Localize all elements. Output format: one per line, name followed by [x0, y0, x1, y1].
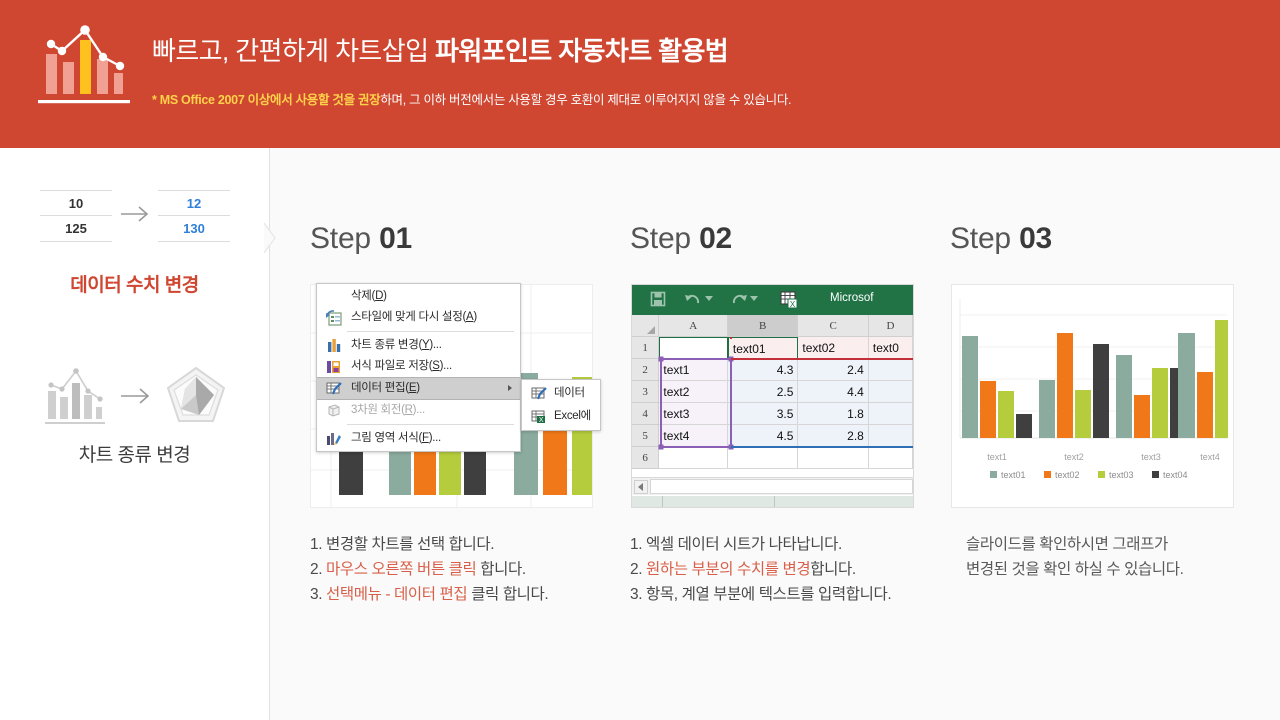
- menu-separator-2: [347, 424, 514, 425]
- menu-item-change-chart-type-label: 차트 종류 변경(: [351, 339, 422, 351]
- menu-separator-1: [347, 331, 514, 332]
- step-03-title: Step 03: [950, 222, 1250, 256]
- l2-plain: 합니다.: [810, 561, 856, 578]
- menu-item-delete[interactable]: 삭제(D): [317, 286, 520, 307]
- menu-item-delete-label: 삭제(: [351, 290, 375, 302]
- sidebar-divider-notch: [263, 222, 277, 254]
- step-03-word: Step: [950, 222, 1019, 255]
- chart-context-menu[interactable]: 삭제(D) 스타일에 맞게 다시 설정(A) 차트 종류 변경(Y)...: [316, 283, 521, 452]
- step-03-desc-line-1: 슬라이드를 확인하시면 그래프가: [966, 532, 1266, 557]
- redo-icon[interactable]: [729, 291, 749, 307]
- menu-item-edit-data[interactable]: 데이터 편집(E): [317, 377, 520, 400]
- excel-grid[interactable]: A B C D 1 text01 text02 text0 2 text1 4.…: [632, 315, 913, 469]
- rotate-3d-icon: [325, 402, 343, 419]
- menu-item-delete-tail: ): [383, 290, 387, 302]
- cell-A2[interactable]: text1: [659, 359, 728, 381]
- step-02-word: Step: [630, 222, 699, 255]
- step-01-number: 01: [379, 222, 412, 255]
- menu-item-format-plot-area-label: 그림 영역 서식(: [351, 432, 422, 444]
- radar-chart-icon: [168, 368, 224, 421]
- l2-num: 2.: [630, 561, 646, 578]
- page-subtitle-highlight: * MS Office 2007 이상에서 사용할 것을 권장: [152, 93, 380, 107]
- edit-data-icon: [325, 380, 343, 397]
- menu-item-delete-key: D: [375, 290, 383, 302]
- page-header: 빠르고, 간편하게 차트삽입 파워포인트 자동차트 활용법 * MS Offic…: [0, 0, 1280, 148]
- excel-column-headers: A B C D: [632, 315, 913, 337]
- excel-icon: X: [530, 408, 548, 425]
- menu-item-save-as-template[interactable]: 서식 파일로 저장(S)...: [317, 356, 520, 377]
- cell-A4[interactable]: text3: [659, 403, 728, 425]
- menu-item-save-as-template-label: 서식 파일로 저장(: [351, 360, 432, 372]
- legend-label-text01: text01: [1001, 470, 1026, 480]
- legend-swatch-text03: [1098, 471, 1105, 478]
- legend-swatch-text02: [1044, 471, 1051, 478]
- cell-A6[interactable]: [659, 447, 728, 469]
- excel-status-bar: [632, 496, 914, 507]
- menu-item-format-plot-area-tail: )...: [429, 432, 441, 444]
- bar-text1-text02: [980, 381, 996, 438]
- row-header-3[interactable]: 3: [632, 381, 659, 403]
- col-header-B[interactable]: B: [728, 315, 798, 337]
- row-header-6[interactable]: 6: [632, 447, 659, 469]
- legend-swatch-text04: [1152, 471, 1159, 478]
- logo: [34, 22, 134, 106]
- select-all-corner[interactable]: [632, 315, 659, 337]
- step-03-description: 슬라이드를 확인하시면 그래프가 변경된 것을 확인 하실 수 있습니다.: [966, 532, 1266, 582]
- chevron-right-icon: [263, 222, 277, 254]
- cell-B2[interactable]: 4.3: [728, 359, 798, 381]
- menu-item-3d-rotation-label: 3차원 회전(: [351, 404, 405, 416]
- legend-label-text04: text04: [1163, 470, 1188, 480]
- step-03-header: Step 03: [950, 222, 1250, 256]
- undo-icon[interactable]: [684, 291, 704, 307]
- after-values: 12 130: [158, 190, 230, 242]
- before-values: 10 125: [40, 190, 112, 242]
- excel-title-label: Microsof: [830, 292, 873, 304]
- excel-horizontal-scrollbar[interactable]: [632, 477, 914, 495]
- l2-red: 마우스 오른쪽 버튼 클릭: [326, 561, 476, 578]
- l2-red: 원하는 부분의 수치를 변경: [646, 561, 810, 578]
- menu-item-reset-style-tail: ): [473, 311, 477, 323]
- step-01-word: Step: [310, 222, 379, 255]
- cell-B5[interactable]: 4.5: [728, 425, 798, 447]
- bar-text1-text04: [1016, 414, 1032, 438]
- cell-C6[interactable]: [798, 447, 868, 469]
- chart-type-icon: [325, 337, 343, 354]
- cell-D1[interactable]: text0: [869, 337, 913, 359]
- submenu-item-edit-in-excel[interactable]: X Excel에: [522, 405, 600, 428]
- menu-item-save-as-template-key: S: [432, 360, 439, 372]
- bar-text3-text02: [1134, 395, 1150, 438]
- step-01-desc-line-3: 3. 선택메뉴 - 데이터 편집 클릭 합니다.: [310, 582, 640, 607]
- cell-B6[interactable]: [728, 447, 798, 469]
- l3-red: 선택메뉴 - 데이터 편집: [326, 586, 467, 603]
- menu-item-3d-rotation-tail: )...: [413, 404, 425, 416]
- submenu-item-edit-data-label: 데이터: [554, 387, 585, 399]
- format-plot-area-icon: [325, 430, 343, 447]
- row-header-1[interactable]: 1: [632, 337, 659, 359]
- l3-plain: 클릭 합니다.: [467, 586, 548, 603]
- l1-plain: 엑셀 데이터 시트가 나타납니다.: [646, 536, 842, 553]
- page-subtitle: * MS Office 2007 이상에서 사용할 것을 권장하며, 그 이하 …: [152, 89, 791, 108]
- menu-item-format-plot-area-key: F: [422, 432, 429, 444]
- step-02-title: Step 02: [630, 222, 930, 256]
- bar-chart-icon: [45, 368, 105, 424]
- excel-datasheet-window[interactable]: X Microsof A B C D 1 text01 text02 text0: [631, 284, 914, 508]
- step-01-desc-line-2: 2. 마우스 오른쪽 버튼 클릭 합니다.: [310, 557, 640, 582]
- cell-C5[interactable]: 2.8: [798, 425, 868, 447]
- table-row: 1 text01 text02 text0: [632, 337, 913, 359]
- cell-A5[interactable]: text4: [659, 425, 728, 447]
- page-subtitle-rest: 하며, 그 이하 버전에서는 사용할 경우 호환이 제대로 이루어지지 않을 수…: [380, 93, 791, 107]
- l1-plain: 변경할 차트를 선택 합니다.: [326, 536, 494, 553]
- excel-title-bar: X Microsof: [632, 285, 913, 315]
- after-value-0: 12: [158, 190, 230, 216]
- scroll-track[interactable]: [650, 479, 913, 494]
- bar-text2-text04: [1093, 344, 1109, 438]
- cell-D5[interactable]: [869, 425, 913, 447]
- scroll-left-icon[interactable]: [634, 480, 648, 494]
- submenu-arrow-icon: [508, 385, 512, 391]
- cell-B3[interactable]: 2.5: [728, 381, 798, 403]
- table-row: 2 text1 4.3 2.4: [632, 359, 913, 381]
- step-02-desc-line-3: 3. 항목, 계열 부분에 텍스트를 입력합니다.: [630, 582, 960, 607]
- undo-dropdown-icon[interactable]: [705, 296, 713, 302]
- table-row: 3 text2 2.5 4.4: [632, 381, 913, 403]
- x-tick-text1: text1: [987, 452, 1007, 462]
- cell-A1[interactable]: [659, 337, 728, 359]
- cell-C3[interactable]: 4.4: [798, 381, 868, 403]
- row-header-5[interactable]: 5: [632, 425, 659, 447]
- cell-C4[interactable]: 1.8: [798, 403, 868, 425]
- l1-num: 1.: [310, 536, 326, 553]
- menu-item-change-chart-type-tail: )...: [429, 339, 441, 351]
- row-header-4[interactable]: 4: [632, 403, 659, 425]
- l2-plain: 합니다.: [476, 561, 525, 578]
- sidebar-label-data-change: 데이터 수치 변경: [0, 270, 269, 297]
- col-header-D[interactable]: D: [869, 315, 913, 337]
- cell-D2[interactable]: [869, 359, 913, 381]
- bar-text4-text02: [1197, 372, 1213, 438]
- svg-text:X: X: [790, 300, 796, 309]
- chart-type-change-icons: [45, 365, 225, 427]
- col-header-C[interactable]: C: [798, 315, 868, 337]
- table-row: 5 text4 4.5 2.8: [632, 425, 913, 447]
- svg-text:X: X: [539, 417, 544, 424]
- step-01-title: Step 01: [310, 222, 610, 256]
- l1-num: 1.: [630, 536, 646, 553]
- step-02-desc-line-2: 2. 원하는 부분의 수치를 변경합니다.: [630, 557, 960, 582]
- l3-num: 3.: [310, 586, 326, 603]
- after-value-1: 130: [158, 216, 230, 242]
- table-row: 4 text3 3.5 1.8: [632, 403, 913, 425]
- data-value-comparison: 10 125 12 130: [40, 190, 230, 242]
- edit-data-submenu[interactable]: 데이터 X Excel에: [521, 379, 601, 431]
- bar-text2-text02: [1057, 333, 1073, 438]
- menu-item-edit-data-label: 데이터 편집(: [351, 382, 409, 394]
- submenu-item-edit-data[interactable]: 데이터: [522, 382, 600, 405]
- step-02-header: Step 02: [630, 222, 930, 256]
- step-02-visual: X Microsof A B C D 1 text01 text02 text0: [631, 284, 914, 508]
- menu-item-3d-rotation: 3차원 회전(R)...: [317, 400, 520, 421]
- page-title-light: 빠르고, 간편하게 차트삽입: [152, 36, 435, 66]
- menu-item-change-chart-type[interactable]: 차트 종류 변경(Y)...: [317, 335, 520, 356]
- right-arrow-icon: [121, 389, 148, 403]
- cell-B1[interactable]: text01: [728, 337, 799, 359]
- legend-swatch-text01: [990, 471, 997, 478]
- bar-text3-text03: [1152, 368, 1168, 438]
- bar-text1-text01: [962, 336, 978, 438]
- menu-item-edit-data-tail: ): [416, 382, 420, 394]
- table-row: 6: [632, 447, 913, 469]
- before-value-1: 125: [40, 216, 112, 242]
- x-tick-text3: text3: [1141, 452, 1161, 462]
- l2-num: 2.: [310, 561, 326, 578]
- page-title: 빠르고, 간편하게 차트삽입 파워포인트 자동차트 활용법: [152, 36, 791, 67]
- bar-text2-text03: [1075, 390, 1091, 438]
- chart-data-icon[interactable]: X: [779, 290, 799, 309]
- result-bar-chart: text1 text2 text3 text4 text01 text02 te…: [952, 285, 1233, 507]
- cell-B4[interactable]: 3.5: [728, 403, 798, 425]
- comparison-arrow: [116, 198, 154, 230]
- save-icon[interactable]: [650, 291, 666, 307]
- cell-C1[interactable]: text02: [798, 337, 868, 359]
- legend-label-text02: text02: [1055, 470, 1080, 480]
- bar-text1-text03: [998, 391, 1014, 438]
- row-header-2[interactable]: 2: [632, 359, 659, 381]
- save-template-icon: [325, 358, 343, 375]
- col-header-A[interactable]: A: [659, 315, 728, 337]
- reset-style-icon: [325, 309, 343, 326]
- step-01-description: 1. 변경할 차트를 선택 합니다. 2. 마우스 오른쪽 버튼 클릭 합니다.…: [310, 532, 640, 607]
- step-03-visual: text1 text2 text3 text4 text01 text02 te…: [951, 284, 1234, 508]
- sidebar-label-chart-type-change: 차트 종류 변경: [0, 440, 269, 467]
- step-01-header: Step 01: [310, 222, 610, 256]
- header-text-block: 빠르고, 간편하게 차트삽입 파워포인트 자동차트 활용법 * MS Offic…: [152, 36, 791, 108]
- l3-plain: 항목, 계열 부분에 텍스트를 입력합니다.: [646, 586, 891, 603]
- bar-text4-text03: [1215, 320, 1228, 438]
- bar-text2-text01: [1039, 380, 1055, 438]
- bar-text3-text01: [1116, 355, 1132, 438]
- step-02-description: 1. 엑셀 데이터 시트가 나타납니다. 2. 원하는 부분의 수치를 변경합니…: [630, 532, 960, 607]
- step-02-number: 02: [699, 222, 732, 255]
- edit-data-icon: [530, 385, 548, 402]
- redo-dropdown-icon[interactable]: [750, 296, 758, 302]
- submenu-item-edit-in-excel-label: Excel에: [554, 410, 591, 422]
- cell-D4[interactable]: [869, 403, 913, 425]
- right-arrow-icon: [116, 198, 154, 230]
- step-02-desc-line-1: 1. 엑셀 데이터 시트가 나타납니다.: [630, 532, 960, 557]
- step-03-desc-line-2: 변경된 것을 확인 하실 수 있습니다.: [966, 557, 1266, 582]
- cell-D3[interactable]: [869, 381, 913, 403]
- menu-item-3d-rotation-key: R: [405, 404, 413, 416]
- legend-label-text03: text03: [1109, 470, 1134, 480]
- page-title-bold: 파워포인트 자동차트 활용법: [435, 36, 728, 66]
- step-03-number: 03: [1019, 222, 1052, 255]
- cell-C2[interactable]: 2.4: [798, 359, 868, 381]
- l3-num: 3.: [630, 586, 646, 603]
- menu-item-reset-style-label: 스타일에 맞게 다시 설정(: [351, 311, 466, 323]
- cell-D6[interactable]: [869, 447, 913, 469]
- cell-A3[interactable]: text2: [659, 381, 728, 403]
- x-tick-text2: text2: [1064, 452, 1084, 462]
- menu-item-save-as-template-tail: )...: [440, 360, 452, 372]
- step-01-desc-line-1: 1. 변경할 차트를 선택 합니다.: [310, 532, 640, 557]
- x-tick-text4: text4: [1200, 452, 1220, 462]
- menu-item-reset-style[interactable]: 스타일에 맞게 다시 설정(A): [317, 307, 520, 328]
- menu-item-format-plot-area[interactable]: 그림 영역 서식(F)...: [317, 428, 520, 449]
- bar-line-chart-icon: [34, 22, 134, 106]
- before-value-0: 10: [40, 190, 112, 216]
